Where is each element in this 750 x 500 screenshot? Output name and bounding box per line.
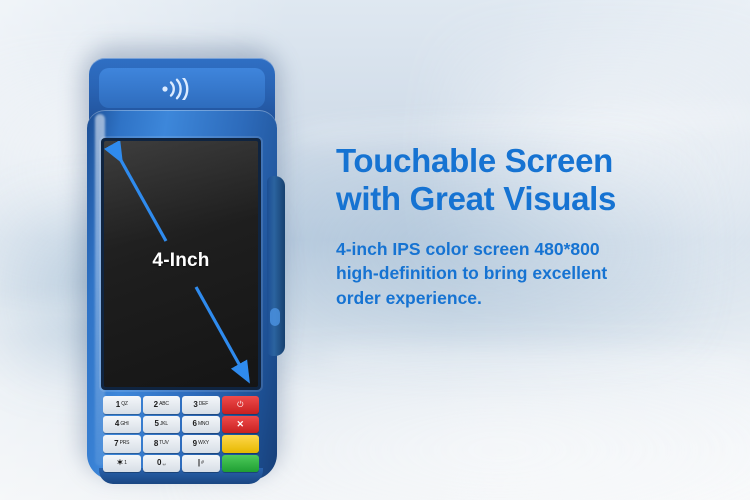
key-number: |: [198, 459, 200, 467]
key-sublabel: 1: [124, 461, 127, 466]
key-number: ✶: [117, 459, 124, 467]
key-1[interactable]: 1QZ: [103, 396, 141, 414]
key-enter[interactable]: [222, 455, 260, 473]
key-star[interactable]: ✶1: [103, 455, 141, 473]
key-2[interactable]: 2ABC: [143, 396, 181, 414]
key-number: 8: [154, 440, 158, 448]
contactless-icon: [153, 78, 199, 100]
subheadline-line-3: order experience.: [336, 286, 732, 311]
key-sublabel: #: [201, 461, 204, 466]
key-sublabel: TUV: [159, 441, 168, 446]
headline-line-1: Touchable Screen: [336, 142, 732, 180]
subheadline: 4-inch IPS color screen 480*800 high-def…: [336, 237, 732, 312]
key-sublabel: WXY: [198, 441, 209, 446]
key-9[interactable]: 9WXY: [182, 435, 220, 453]
headline: Touchable Screen with Great Visuals: [336, 142, 732, 219]
key-4[interactable]: 4GHI: [103, 416, 141, 434]
cancel-icon: ✕: [236, 420, 244, 429]
key-sublabel: ␣: [162, 461, 165, 466]
key-hash[interactable]: |#: [182, 455, 220, 473]
key-number: 0: [157, 459, 161, 467]
subheadline-line-2: high-definition to bring excellent: [336, 261, 732, 286]
diagonal-arrow-up-left: [118, 155, 166, 241]
key-number: 2: [154, 401, 158, 409]
key-sublabel: JKL: [160, 422, 168, 427]
key-number: 6: [192, 420, 196, 428]
key-clear[interactable]: [222, 435, 260, 453]
keypad[interactable]: 1QZ 2ABC 3DEF ⏻ 4GHI 5JKL 6MNO ✕ 7PRS 8T…: [103, 396, 259, 472]
power-icon: ⏻: [237, 401, 243, 409]
diagonal-arrow-down-right: [196, 287, 244, 373]
key-number: 5: [155, 420, 159, 428]
key-number: 7: [114, 440, 118, 448]
key-sublabel: PRS: [120, 441, 130, 446]
screen-size-label: 4-Inch: [104, 250, 258, 272]
key-0[interactable]: 0␣: [143, 455, 181, 473]
key-number: 4: [115, 420, 119, 428]
key-3[interactable]: 3DEF: [182, 396, 220, 414]
marketing-copy: Touchable Screen with Great Visuals 4-in…: [336, 142, 732, 311]
key-5[interactable]: 5JKL: [143, 416, 181, 434]
key-sublabel: DEF: [199, 402, 208, 407]
key-7[interactable]: 7PRS: [103, 435, 141, 453]
subheadline-line-1: 4-inch IPS color screen 480*800: [336, 237, 732, 262]
key-power[interactable]: ⏻: [222, 396, 260, 414]
headline-line-2: with Great Visuals: [336, 180, 732, 218]
promo-banner: 4-Inch 1QZ 2ABC 3DEF ⏻ 4GHI 5JKL 6MNO ✕ …: [0, 0, 750, 500]
key-sublabel: ABC: [159, 402, 169, 407]
key-sublabel: QZ: [121, 402, 128, 407]
key-sublabel: MNO: [198, 422, 209, 427]
key-6[interactable]: 6MNO: [182, 416, 220, 434]
key-8[interactable]: 8TUV: [143, 435, 181, 453]
key-cancel[interactable]: ✕: [222, 416, 260, 434]
key-number: 9: [193, 440, 197, 448]
pos-terminal-device: 4-Inch 1QZ 2ABC 3DEF ⏻ 4GHI 5JKL 6MNO ✕ …: [75, 28, 285, 476]
key-sublabel: GHI: [120, 422, 128, 427]
key-number: 1: [116, 401, 120, 409]
device-side-module: [267, 176, 285, 356]
key-number: 3: [193, 401, 197, 409]
device-side-button[interactable]: [270, 308, 280, 326]
